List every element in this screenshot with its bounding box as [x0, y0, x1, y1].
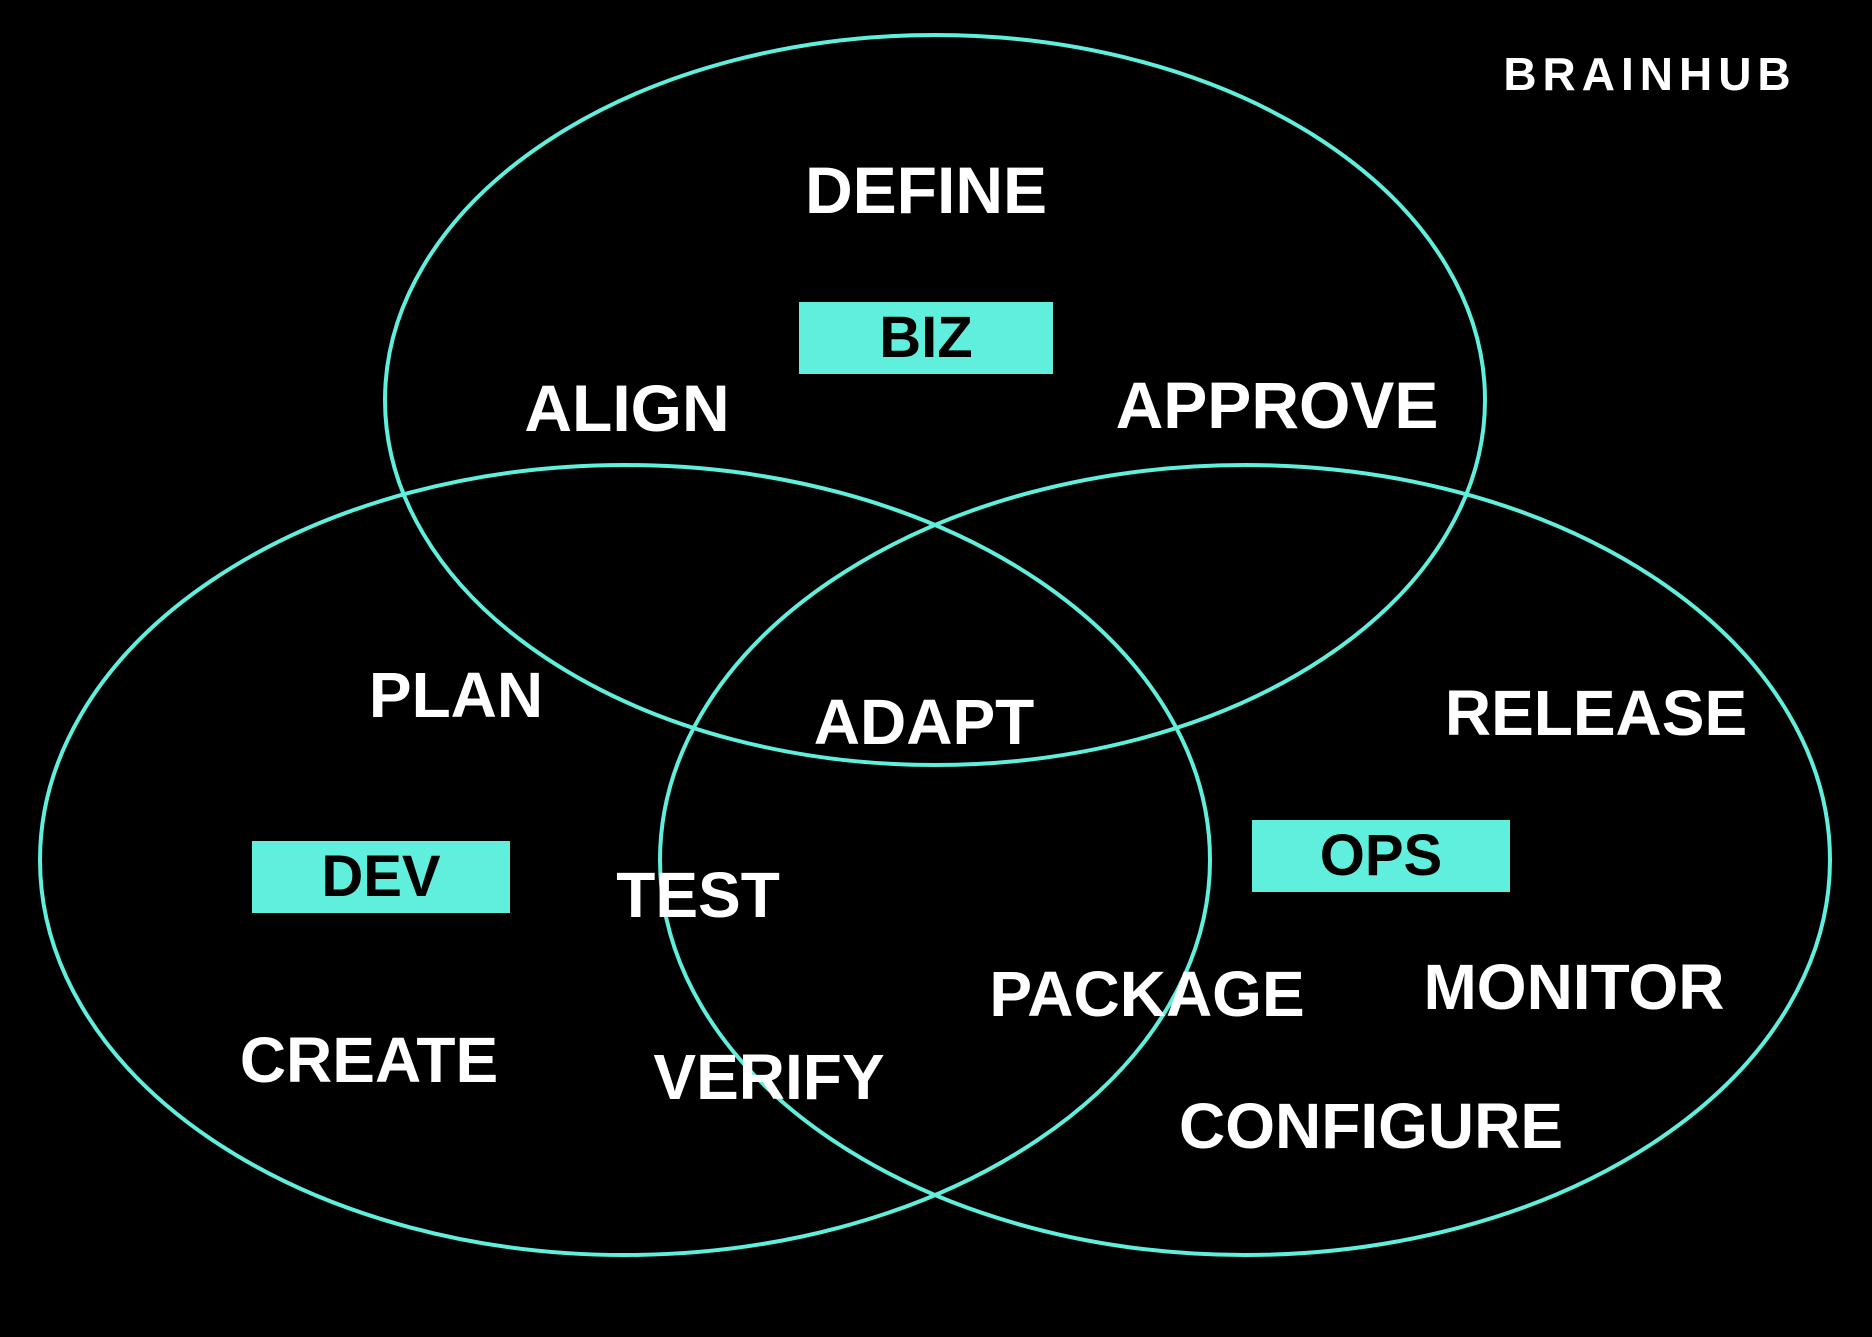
venn-diagram-canvas: DEFINEALIGNAPPROVEPLANADAPTRELEASETESTPA… — [0, 0, 1872, 1337]
badge-ops: OPS — [1252, 820, 1510, 892]
venn-badges-layer: BIZDEVOPS — [0, 0, 1872, 1337]
badge-biz: BIZ — [799, 302, 1053, 374]
brainhub-watermark: BRAINHUB — [1503, 47, 1796, 101]
badge-dev: DEV — [252, 841, 510, 913]
